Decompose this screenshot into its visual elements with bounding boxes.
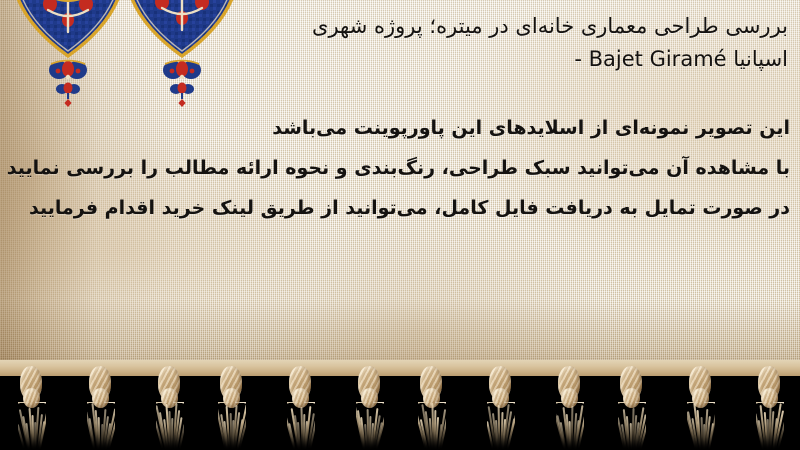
fringe-tassel — [414, 366, 448, 450]
text-layer: بررسی طراحی معماری خانه‌ای در میتره؛ پرو… — [0, 0, 800, 374]
fringe-strands — [556, 402, 584, 450]
fringe-tassel — [352, 366, 386, 450]
slide-canvas: بررسی طراحی معماری خانه‌ای در میتره؛ پرو… — [0, 0, 800, 450]
fringe-strands — [418, 402, 446, 450]
title-line-1: بررسی طراحی معماری خانه‌ای در میتره؛ پرو… — [228, 10, 788, 43]
fringe-strands — [487, 402, 515, 450]
slide-body: این تصویر نمونه‌ای از اسلایدهای این پاور… — [0, 108, 790, 228]
fringe-tassel — [483, 366, 517, 450]
fringe-strands — [756, 402, 784, 450]
fringe-tassel — [283, 366, 317, 450]
fringe-strands — [287, 402, 315, 450]
fringe-tassel — [683, 366, 717, 450]
carpet-fringe-tassels — [0, 366, 800, 450]
fringe-strands — [87, 402, 115, 450]
fringe-strands — [687, 402, 715, 450]
fringe-tassel — [552, 366, 586, 450]
fringe-strands — [18, 402, 46, 450]
fringe-strands — [618, 402, 646, 450]
fringe-tassel — [752, 366, 786, 450]
body-line-2: با مشاهده آن می‌توانید سبک طراحی، رنگ‌بن… — [0, 148, 790, 188]
body-line-1: این تصویر نمونه‌ای از اسلایدهای این پاور… — [0, 108, 790, 148]
body-line-3: در صورت تمایل به دریافت فایل کامل، می‌تو… — [0, 188, 790, 228]
title-line-2: اسپانیا Bajet Giramé - — [228, 43, 788, 76]
fringe-tassel — [152, 366, 186, 450]
fringe-strands — [356, 402, 384, 450]
slide-title: بررسی طراحی معماری خانه‌ای در میتره؛ پرو… — [228, 10, 788, 76]
fringe-tassel — [14, 366, 48, 450]
fringe-tassel — [83, 366, 117, 450]
fringe-strands — [218, 402, 246, 450]
fringe-strands — [156, 402, 184, 450]
fringe-tassel — [214, 366, 248, 450]
fringe-tassel — [614, 366, 648, 450]
